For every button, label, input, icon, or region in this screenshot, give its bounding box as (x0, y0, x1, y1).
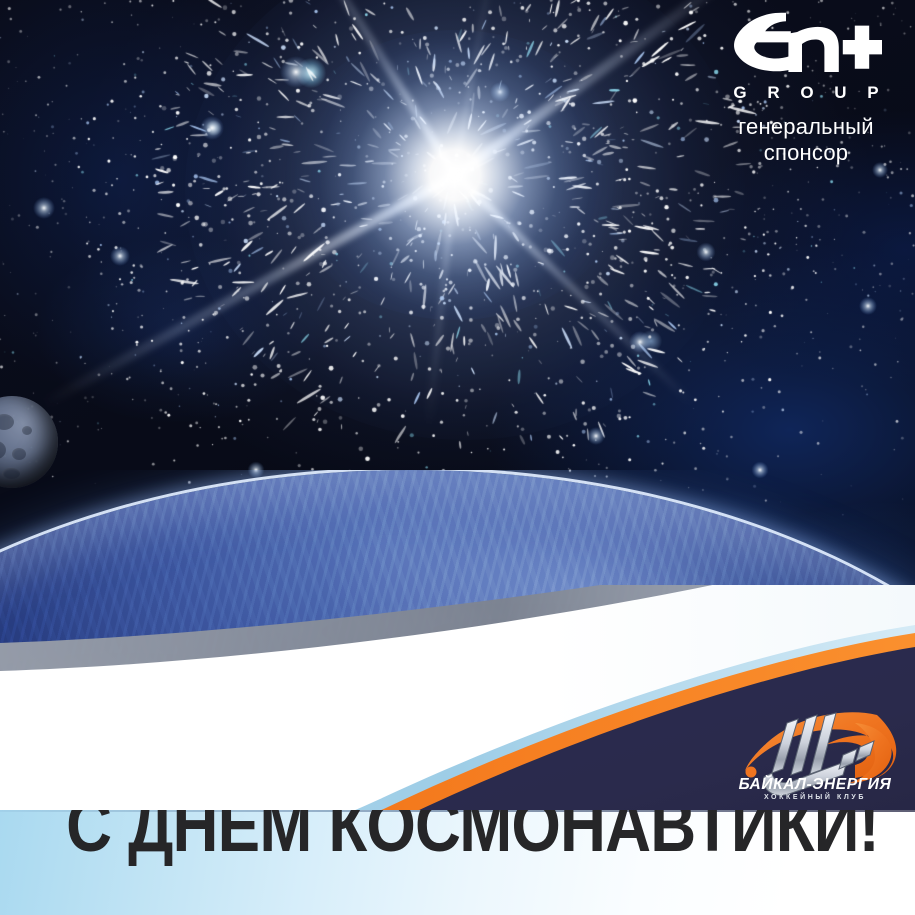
club-logo: БАЙКАЛ-ЭНЕРГИЯ ХОККЕЙНЫЙ КЛУБ (727, 699, 903, 803)
enplus-logo-icon (730, 8, 882, 80)
sponsor-role-line2: спонсор (715, 140, 897, 166)
club-name: БАЙКАЛ-ЭНЕРГИЯ (739, 775, 892, 793)
poster-canvas: G R O U P генеральный спонсор (0, 0, 915, 915)
greeting-banner: С ДНЁМ КОСМОНАВТИКИ! (0, 810, 915, 915)
greeting-text: С ДНЁМ КОСМОНАВТИКИ! (0, 826, 915, 900)
sponsor-group-word: G R O U P (715, 84, 897, 101)
club-subtitle: ХОККЕЙНЫЙ КЛУБ (764, 792, 866, 801)
sponsor-role-line1: генеральный (715, 114, 897, 140)
sponsor-block: G R O U P генеральный спонсор (715, 8, 897, 165)
greeting-label: С ДНЁМ КОСМОНАВТИКИ! (66, 810, 879, 863)
